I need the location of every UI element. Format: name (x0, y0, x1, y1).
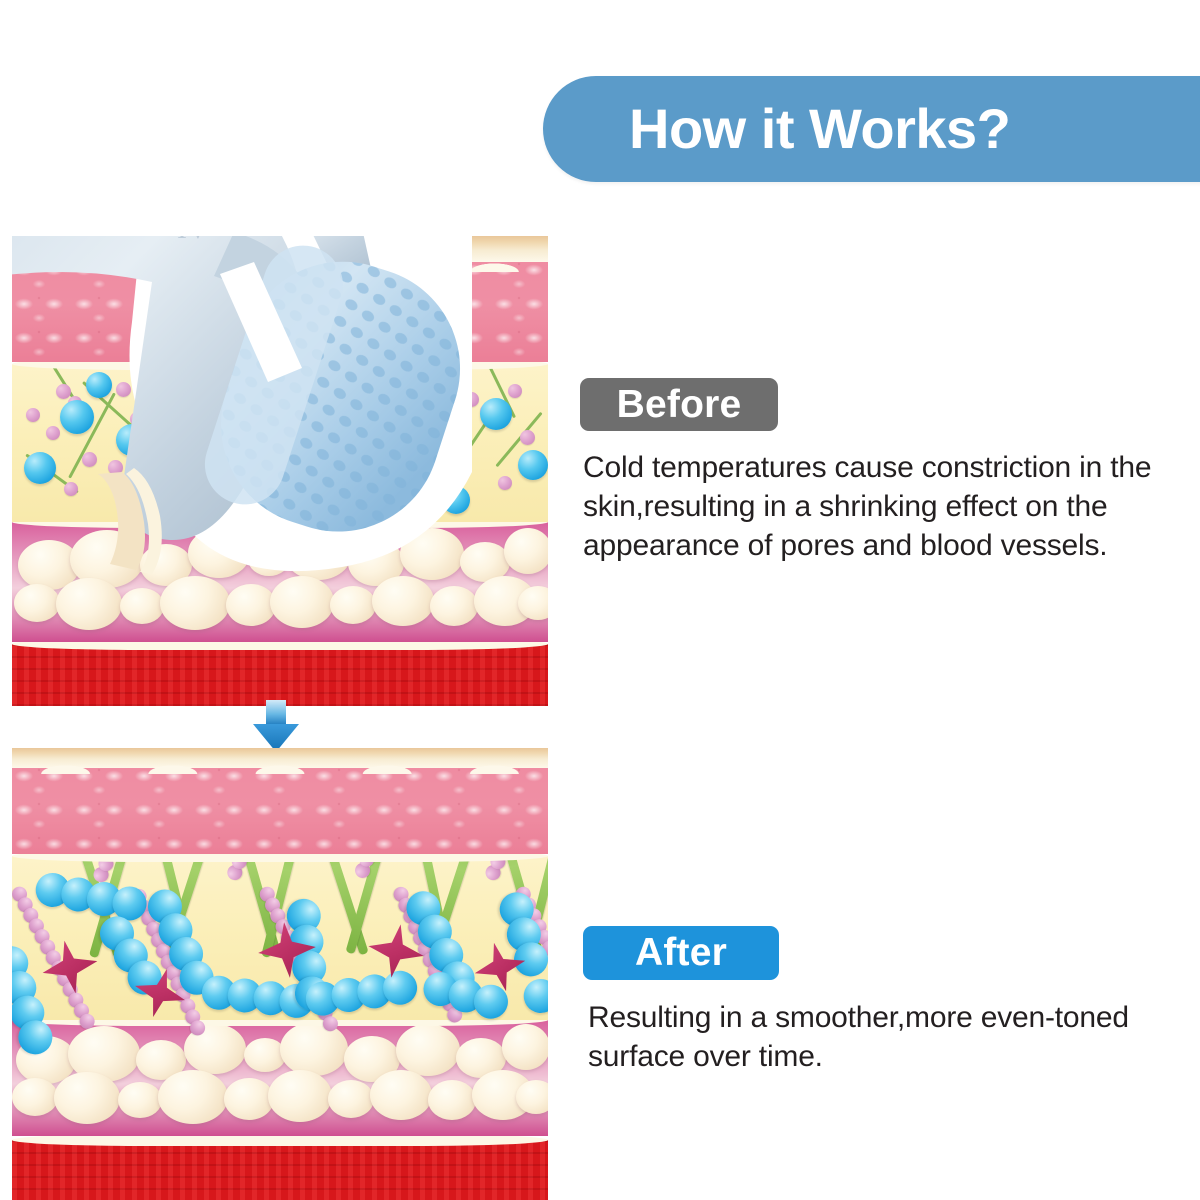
hydration-cluster (420, 969, 428, 1002)
before-badge: Before (580, 378, 778, 431)
down-arrow-icon (253, 700, 299, 752)
muscle-layer (12, 1140, 548, 1200)
how-it-works-banner: How it Works? (543, 76, 1200, 182)
elastin-chain (353, 875, 367, 880)
dermis-layer (12, 856, 548, 1020)
muscle-wave-texture (12, 644, 548, 706)
after-description: Resulting in a smoother,more even-toned … (588, 998, 1188, 1076)
poster-canvas: IV (0, 0, 1200, 1200)
elastin-chain (12, 884, 23, 891)
page-title: How it Works? (629, 101, 1010, 157)
elastin-chain (483, 876, 497, 882)
epidermis-layer (12, 764, 548, 854)
hydration-cluster (521, 976, 527, 1009)
after-badge: After (583, 926, 779, 980)
skin-diagram-after (12, 748, 548, 1200)
hydration-cluster (12, 942, 22, 953)
hypodermis-layer (12, 1020, 548, 1136)
epidermis-cell-texture (12, 764, 548, 854)
before-badge-label: Before (617, 383, 742, 427)
elastin-chain (225, 877, 239, 883)
ice-roller-device: IV (12, 236, 472, 592)
hydration-cluster (33, 870, 39, 903)
muscle-layer (12, 644, 548, 706)
skin-surface-wave (12, 758, 548, 774)
arrow-shaft (266, 700, 286, 726)
elastin-chain (391, 884, 405, 890)
skin-diagram-before: IV (12, 236, 548, 706)
before-description: Cold temperatures cause constriction in … (583, 448, 1193, 565)
muscle-wave-texture (12, 1140, 548, 1200)
after-badge-label: After (635, 931, 727, 975)
hydration-cluster (285, 897, 319, 901)
